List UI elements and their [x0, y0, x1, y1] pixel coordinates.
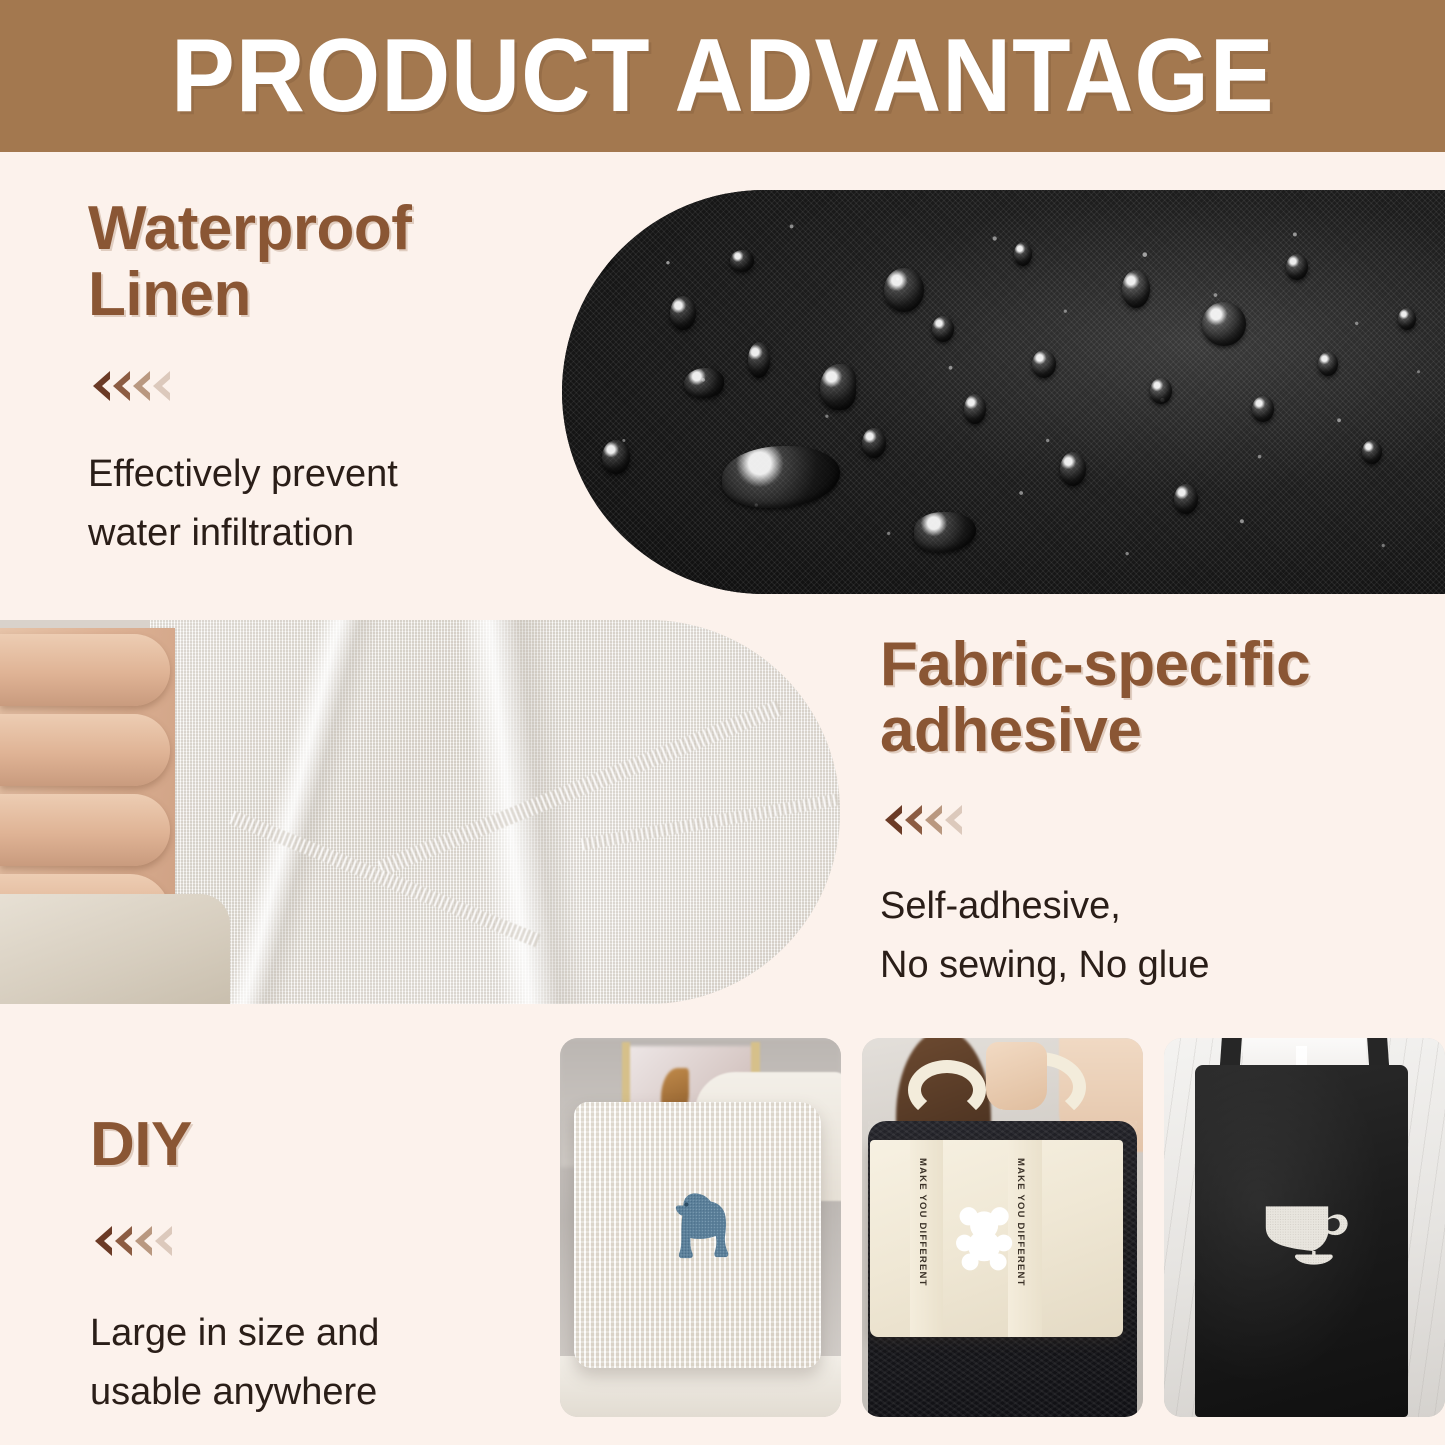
water-droplet — [1252, 396, 1274, 422]
water-droplet — [684, 368, 724, 398]
linen-lower-layer — [0, 894, 230, 1004]
heading-line-1: DIY — [90, 1112, 520, 1178]
body-line-1: Large in size and — [90, 1304, 520, 1363]
strap-text-left: MAKE YOU DIFFERENT — [917, 1158, 928, 1287]
finger — [0, 634, 170, 706]
water-droplet — [884, 268, 924, 312]
water-droplet — [1362, 440, 1382, 464]
body-line-2: water infiltration — [88, 504, 558, 563]
chevron-left-icon-3 — [135, 1226, 152, 1256]
body-line-1: Self-adhesive, — [880, 877, 1420, 936]
chevron-divider-adhesive — [885, 805, 1420, 835]
water-droplet — [964, 394, 986, 424]
heading-line-1: Waterproof — [88, 196, 558, 262]
section-adhesive-body: Self-adhesive, No sewing, No glue — [880, 877, 1420, 995]
water-droplet — [932, 316, 954, 342]
section-diy-text: DIY Large in size and usable anywhere — [90, 1112, 520, 1422]
water-droplet — [730, 250, 754, 272]
heading-line-2: Linen — [88, 262, 558, 328]
dog-silhouette-patch — [653, 1174, 754, 1288]
chevron-left-icon-1 — [885, 805, 902, 835]
heading-line-1: Fabric-specific — [880, 632, 1420, 698]
water-droplet — [1014, 242, 1032, 266]
bag-handle-left — [908, 1060, 986, 1120]
chevron-left-icon-3 — [925, 805, 942, 835]
water-droplet — [1032, 350, 1056, 378]
finger — [0, 794, 170, 866]
heading-line-2: adhesive — [880, 698, 1420, 764]
water-droplet — [820, 364, 856, 410]
chevron-left-icon-4 — [153, 371, 170, 401]
water-droplet — [748, 342, 770, 378]
section-waterproof-text: Waterproof Linen Effectively prevent wat… — [88, 196, 558, 563]
body-line-2: usable anywhere — [90, 1363, 520, 1422]
header-banner: PRODUCT ADVANTAGE — [0, 0, 1445, 152]
chevron-left-icon-2 — [905, 805, 922, 835]
thumbnail-tote-bag: MAKE YOU DIFFERENT MAKE YOU DIFFERENT — [862, 1038, 1143, 1417]
chevron-left-icon-4 — [945, 805, 962, 835]
chevron-left-icon-1 — [93, 371, 110, 401]
water-droplet — [1174, 484, 1198, 514]
hand-holding-bag — [986, 1042, 1048, 1110]
section-adhesive-text: Fabric-specific adhesive Self-adhesive, … — [880, 632, 1420, 995]
teacup-silhouette-patch — [1254, 1190, 1355, 1273]
chevron-left-icon-3 — [133, 371, 150, 401]
bag-strap-left: MAKE YOU DIFFERENT — [910, 1140, 944, 1337]
water-droplet — [1318, 352, 1338, 376]
thumbnail-pillow — [560, 1038, 841, 1417]
body-line-1: Effectively prevent — [88, 445, 558, 504]
section-diy-body: Large in size and usable anywhere — [90, 1304, 520, 1422]
section-diy-heading: DIY — [90, 1112, 520, 1178]
linen-cloth — [150, 620, 840, 1004]
section-waterproof-body: Effectively prevent water infiltration — [88, 445, 558, 563]
product-advantage-infographic: PRODUCT ADVANTAGE Waterproof Linen Effec… — [0, 0, 1445, 1445]
thumbnail-apron — [1164, 1038, 1445, 1417]
diy-examples-gallery: MAKE YOU DIFFERENT MAKE YOU DIFFERENT — [560, 1038, 1445, 1417]
finger — [0, 714, 170, 786]
water-droplet — [1286, 254, 1308, 280]
section-waterproof-heading: Waterproof Linen — [88, 196, 558, 327]
page-title: PRODUCT ADVANTAGE — [171, 24, 1275, 128]
water-droplet — [670, 296, 696, 330]
chevron-divider-waterproof — [93, 371, 558, 401]
water-droplet — [602, 440, 630, 474]
body-line-2: No sewing, No glue — [880, 936, 1420, 995]
chevron-left-icon-1 — [95, 1226, 112, 1256]
water-droplet — [1060, 452, 1086, 486]
bear-silhouette-patch — [949, 1190, 1019, 1285]
water-droplet — [862, 428, 886, 458]
chevron-left-icon-2 — [115, 1226, 132, 1256]
water-droplet — [580, 228, 614, 270]
chevron-divider-diy — [95, 1226, 520, 1256]
water-droplet — [1122, 270, 1150, 308]
waterproof-fabric-photo — [562, 190, 1445, 594]
section-adhesive-heading: Fabric-specific adhesive — [880, 632, 1420, 763]
chevron-left-icon-4 — [155, 1226, 172, 1256]
water-droplet — [1202, 302, 1246, 346]
water-droplet — [1398, 308, 1416, 330]
chevron-left-icon-2 — [113, 371, 130, 401]
linen-fabric-photo — [0, 620, 840, 1004]
water-droplet — [1150, 378, 1172, 404]
